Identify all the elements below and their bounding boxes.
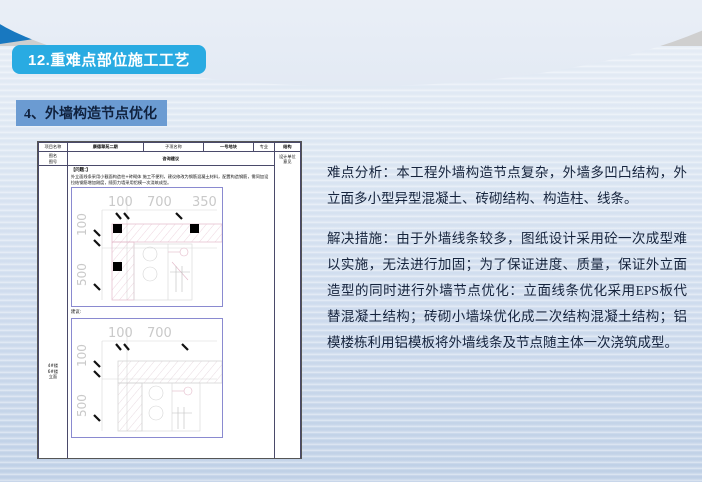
dim-350: 350 [192,195,217,210]
cad-svg-original: 100 700 350 100 500 [72,188,222,306]
dim-700: 700 [147,195,172,210]
solution-measures-paragraph: 解决措施：由于外墙线条较多，图纸设计采用砼一次成型难以实施，无法进行加固；为了保… [327,226,687,356]
cell-drawing-label: 图名 图号 [39,152,68,166]
rebar-marker [113,224,122,233]
consultation-table: 项目名称 康德翠苑二期 子项名称 一号地块 专业 结构 图名 图号 咨询建议 设… [38,142,301,459]
cell-project-value: 康德翠苑二期 [67,143,143,152]
cad-drawing-original[interactable]: 100 700 350 100 500 [71,187,223,307]
rebar-marker [190,224,199,233]
problem-text: 外立面线条采用小截面构造柱+砖砌体 施工不便利，建议修改为钢筋混凝土材料，配置构… [71,174,271,187]
cell-subitem-value: 一号地块 [204,143,254,152]
table-row: 4#楼 6#楼 立面 【问题：】 外立面线条采用小截面构造柱+砖砌体 施工不便利… [39,166,301,460]
dim-100-v: 100 [75,213,89,236]
cad-svg-optimized: 100 700 100 500 [72,319,222,437]
cell-project-label: 项目名称 [39,143,68,152]
svg-text:100: 100 [108,326,133,341]
dim-100: 100 [108,195,133,210]
svg-text:100: 100 [75,344,89,367]
table-row: 图名 图号 咨询建议 设计单位 意见 [39,152,301,166]
opinion-label-line2: 意见 [275,159,300,164]
rebar-marker [113,262,122,271]
svg-text:700: 700 [147,326,172,341]
cell-subitem-label: 子项名称 [143,143,203,152]
table-row: 项目名称 康德翠苑二期 子项名称 一号地块 专业 结构 [39,143,301,152]
explanation-text-column: 难点分析：本工程外墙构造节点复杂，外墙多凹凸结构，外立面多小型异型混凝土、砖砌结… [327,160,687,356]
cell-opinion-header: 设计单位 意见 [274,152,300,460]
cell-document-body: 【问题：】 外立面线条采用小截面构造柱+砖砌体 施工不便利，建议修改为钢筋混凝土… [67,166,274,460]
cell-row-label: 4#楼 6#楼 立面 [39,166,68,460]
cell-major-value: 结构 [274,143,300,152]
difficulty-analysis-paragraph: 难点分析：本工程外墙构造节点复杂，外墙多凹凸结构，外立面多小型异型混凝土、砖砌结… [327,160,687,212]
embedded-document-image[interactable]: 项目名称 康德翠苑二期 子项名称 一号地块 专业 结构 图名 图号 咨询建议 设… [37,141,302,459]
svg-text:500: 500 [75,394,89,417]
drawing-label-line2: 图号 [39,159,67,164]
slide-subtitle-badge: 4、外墙构造节点优化 [16,100,167,126]
slide-canvas: 12.重难点部位施工工艺 4、外墙构造节点优化 难点分析：本工程外墙构造节点复杂… [0,0,702,482]
suggestion-label: 建议: [71,310,271,316]
cell-major-label: 专业 [253,143,274,152]
slide-title-badge: 12.重难点部位施工工艺 [12,45,206,74]
cad-drawing-optimized[interactable]: 100 700 100 500 [71,318,223,438]
dim-500-v: 500 [75,263,89,286]
cell-drawing-value: 咨询建议 [67,152,274,166]
row-label-text: 4#楼 6#楼 立面 [39,363,67,379]
